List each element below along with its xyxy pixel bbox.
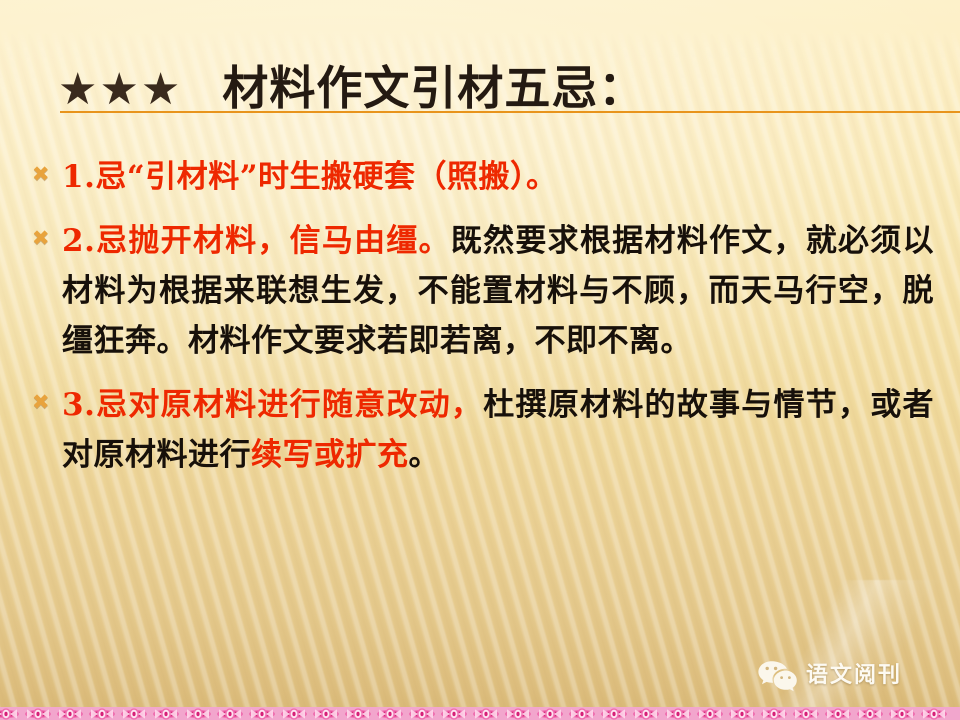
text-segment-red: 3.忌对原材料进行随意改动， (62, 387, 483, 423)
bullet-cross-icon: ✖ (32, 216, 62, 260)
bullet-item-text: 3.忌对原材料进行随意改动，杜撰原材料的故事与情节，或者对原材料进行续写或扩充。 (62, 380, 934, 480)
watermark-label: 语文阅刊 (806, 664, 902, 688)
text-segment-red: 2.忌抛开材料，信马由缰。 (62, 223, 451, 259)
bullet-item-3: ✖3.忌对原材料进行随意改动，杜撰原材料的故事与情节，或者对原材料进行续写或扩充… (0, 380, 960, 480)
text-segment-red: 1.忌“引材料”时生搬硬套（照搬）。 (62, 159, 558, 195)
wechat-icon (757, 660, 797, 692)
bullet-item-text: 2.忌抛开材料，信马由缰。既然要求根据材料作文，就必须以材料为根据来联想生发，不… (62, 216, 934, 366)
background-ribbon-highlight (700, 580, 960, 710)
text-segment-red: 续写或扩充 (251, 437, 409, 473)
floral-bottom-border (0, 706, 960, 720)
watermark: 语文阅刊 (757, 660, 902, 692)
slide-canvas: ★★★ 材料作文引材五忌： ★★★ 材料作文引材五忌： ✖1.忌“引材料”时生搬… (0, 0, 960, 720)
page-title: 材料作文引材五忌： (222, 64, 645, 112)
title-row: ★★★ 材料作文引材五忌： (0, 48, 960, 112)
bullet-list: ✖1.忌“引材料”时生搬硬套（照搬）。✖2.忌抛开材料，信马由缰。既然要求根据材… (0, 152, 960, 494)
title-underline-rule (60, 111, 960, 113)
bullet-cross-icon: ✖ (32, 380, 62, 424)
three-stars-icon: ★★★ (58, 68, 182, 112)
bullet-item-1: ✖1.忌“引材料”时生搬硬套（照搬）。 (0, 152, 960, 202)
bullet-item-text: 1.忌“引材料”时生搬硬套（照搬）。 (62, 152, 934, 202)
bullet-item-2: ✖2.忌抛开材料，信马由缰。既然要求根据材料作文，就必须以材料为根据来联想生发，… (0, 216, 960, 366)
bullet-cross-icon: ✖ (32, 152, 62, 196)
slide-title-block: ★★★ 材料作文引材五忌： (0, 48, 960, 120)
text-segment-black: 。 (409, 437, 441, 473)
